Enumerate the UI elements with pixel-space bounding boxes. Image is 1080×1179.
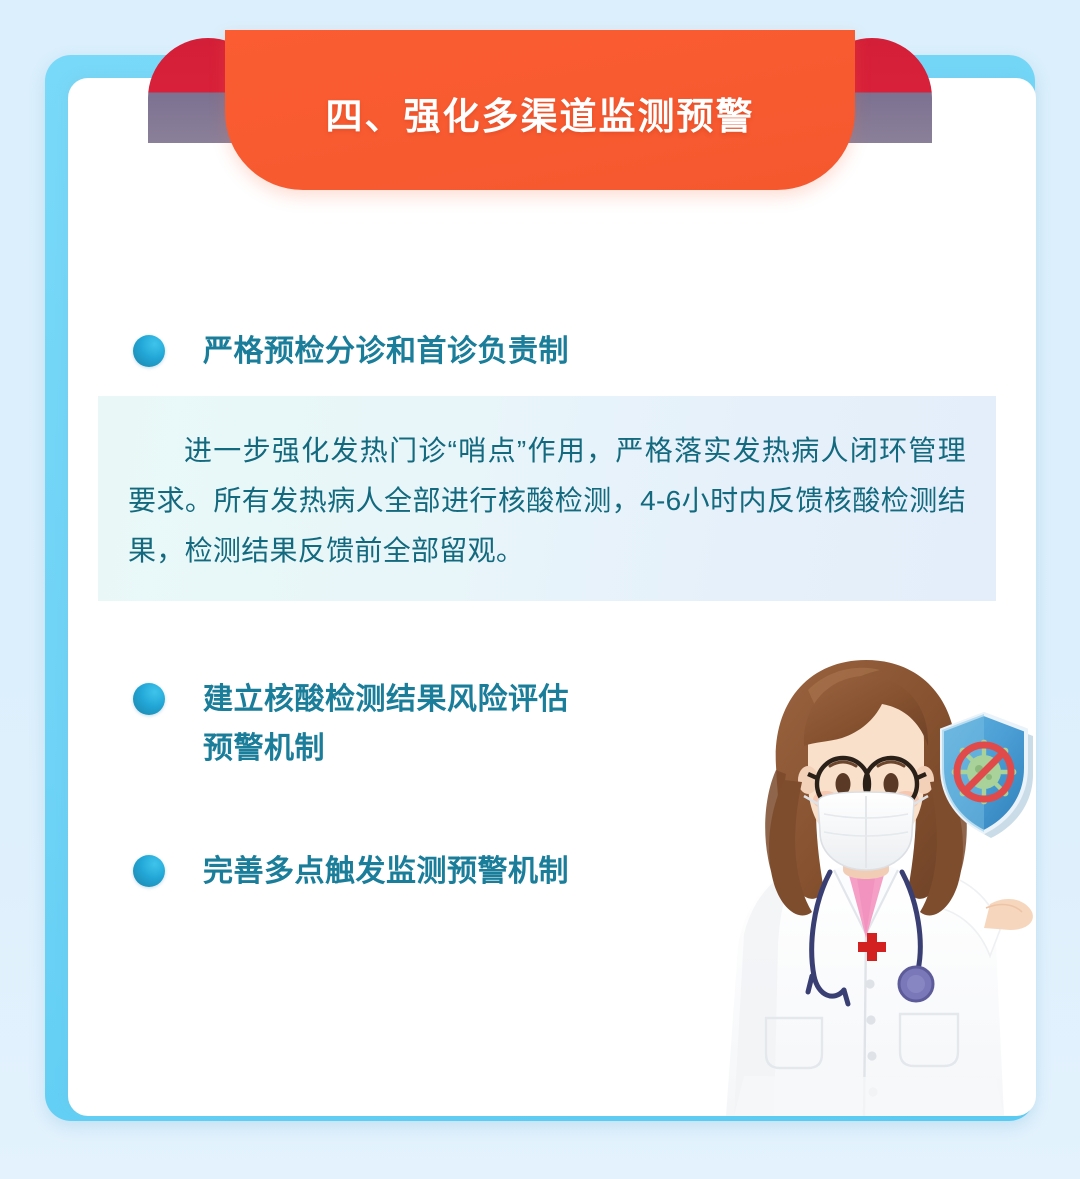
bullet-dot-icon xyxy=(133,855,165,887)
section-heading-label-2: 建立核酸检测结果风险评估 预警机制 xyxy=(203,676,569,773)
content-card: 严格预检分诊和首诊负责制 进一步强化发热门诊“哨点”作用，严格落实发热病人闭环管… xyxy=(68,78,1036,1116)
paragraph-text: 进一步强化发热门诊“哨点”作用，严格落实发热病人闭环管理要求。所有发热病人全部进… xyxy=(128,426,966,575)
paragraph-box: 进一步强化发热门诊“哨点”作用，严格落实发热病人闭环管理要求。所有发热病人全部进… xyxy=(98,396,996,601)
section-heading-2: 建立核酸检测结果风险评估 预警机制 xyxy=(133,676,569,773)
bullet-dot-icon xyxy=(133,335,165,367)
face-mask-icon xyxy=(804,792,928,870)
section-heading-label-1: 严格预检分诊和首诊负责制 xyxy=(203,328,569,377)
content-area: 严格预检分诊和首诊负责制 进一步强化发热门诊“哨点”作用，严格落实发热病人闭环管… xyxy=(68,78,1036,1116)
section-heading-1: 严格预检分诊和首诊负责制 xyxy=(133,328,569,377)
section-heading-label-3: 完善多点触发监测预警机制 xyxy=(203,848,569,897)
bullet-dot-icon xyxy=(133,683,165,715)
female-doctor-illustration xyxy=(704,646,1036,1116)
section-heading-3: 完善多点触发监测预警机制 xyxy=(133,848,569,897)
poster-root: 严格预检分诊和首诊负责制 进一步强化发热门诊“哨点”作用，严格落实发热病人闭环管… xyxy=(0,0,1080,1179)
